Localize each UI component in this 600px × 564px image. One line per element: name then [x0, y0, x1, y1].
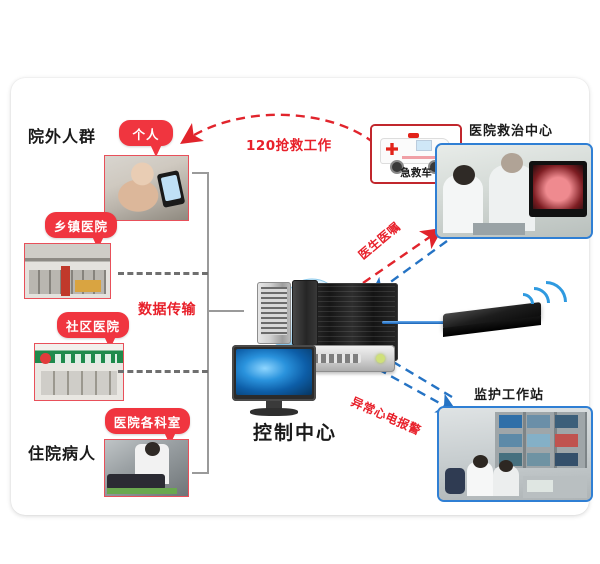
bubble-individual[interactable]: 个人 [119, 120, 173, 146]
link-server-router [382, 321, 448, 324]
arrow-ecg-alarm-out [378, 369, 452, 410]
bubble-hospital-departments-label: 医院各科室 [114, 412, 182, 431]
photo-individual[interactable] [104, 155, 189, 221]
bubble-individual-label: 个人 [132, 124, 159, 143]
photo-hospital-center[interactable] [435, 143, 593, 239]
bubble-township-hospital-label: 乡镇医院 [54, 216, 108, 235]
dashed-link-lower [118, 370, 208, 373]
label-data-transfer: 数据传输 [138, 299, 196, 319]
monitor-base [250, 408, 298, 416]
bubble-township-hospital[interactable]: 乡镇医院 [45, 212, 117, 238]
label-hospital-center: 医院救治中心 [469, 120, 553, 139]
bracket-bottom-arm [192, 472, 209, 474]
bracket-top-arm [192, 172, 209, 174]
diagram-canvas: 院外人群 住院病人 个人 乡镇医院 社区医院 医院各科室 [0, 0, 600, 564]
photo-township-hospital[interactable] [24, 243, 111, 299]
bubble-community-hospital-label: 社区医院 [66, 316, 120, 335]
photo-hospital-departments[interactable] [104, 439, 189, 497]
server-tower [257, 282, 291, 344]
server-tower-dark [292, 280, 318, 346]
bubble-hospital-departments[interactable]: 医院各科室 [105, 408, 190, 434]
label-rescue-flow: 120抢救工作 [246, 134, 332, 154]
heading-outpatient: 院外人群 [28, 123, 96, 147]
control-monitor-screen [236, 349, 312, 395]
label-monitor-station: 监护工作站 [474, 384, 544, 403]
heading-inpatient: 住院病人 [28, 440, 96, 464]
bubble-community-hospital[interactable]: 社区医院 [57, 312, 129, 338]
bracket-vertical [207, 172, 209, 474]
label-control-center: 控制中心 [253, 418, 337, 445]
photo-community-hospital[interactable] [34, 343, 124, 401]
bracket-center-stub [207, 310, 244, 312]
photo-monitor-station[interactable] [437, 406, 593, 502]
dashed-link-upper [118, 272, 208, 275]
